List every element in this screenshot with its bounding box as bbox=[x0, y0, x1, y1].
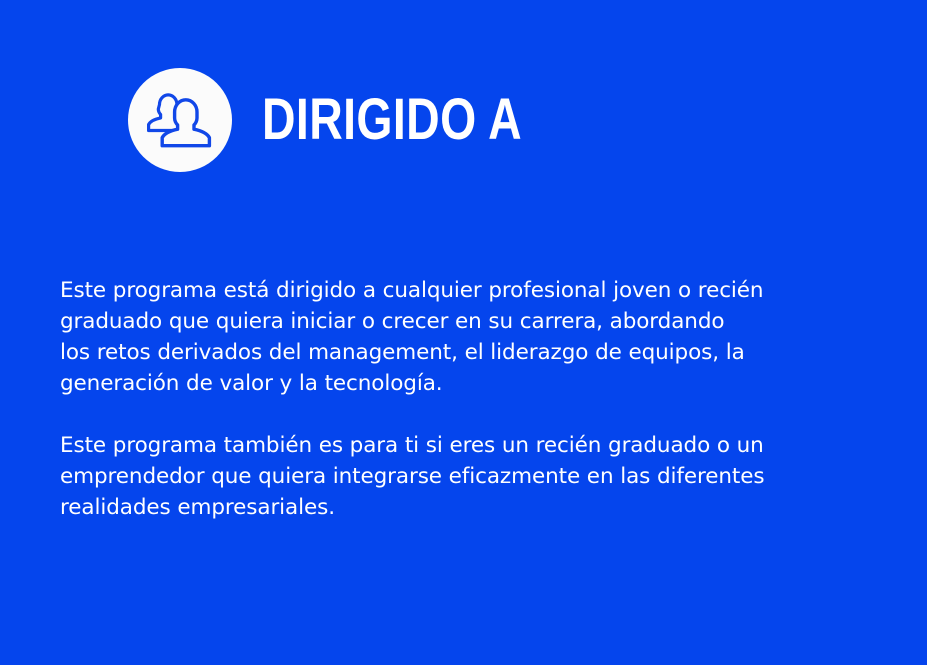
two-people-icon bbox=[146, 87, 214, 153]
copy-line: emprendedor que quiera integrarse eficaz… bbox=[60, 461, 880, 492]
copy-line: generación de valor y la tecnología. bbox=[60, 368, 880, 399]
copy-line: Este programa está dirigido a cualquier … bbox=[60, 275, 880, 306]
slide-canvas: DIRIGIDO A Este programa está dirigido a… bbox=[0, 0, 927, 665]
body-copy: Este programa está dirigido a cualquier … bbox=[60, 275, 880, 523]
paragraph: Este programa también es para ti si eres… bbox=[60, 430, 880, 523]
copy-line: Este programa también es para ti si eres… bbox=[60, 430, 880, 461]
paragraph: Este programa está dirigido a cualquier … bbox=[60, 275, 880, 399]
icon-badge bbox=[128, 68, 232, 172]
copy-line: graduado que quiera iniciar o crecer en … bbox=[60, 306, 880, 337]
copy-line: realidades empresariales. bbox=[60, 492, 880, 523]
copy-line: los retos derivados del management, el l… bbox=[60, 337, 880, 368]
slide-header: DIRIGIDO A bbox=[128, 68, 587, 172]
page-title: DIRIGIDO A bbox=[262, 91, 522, 149]
